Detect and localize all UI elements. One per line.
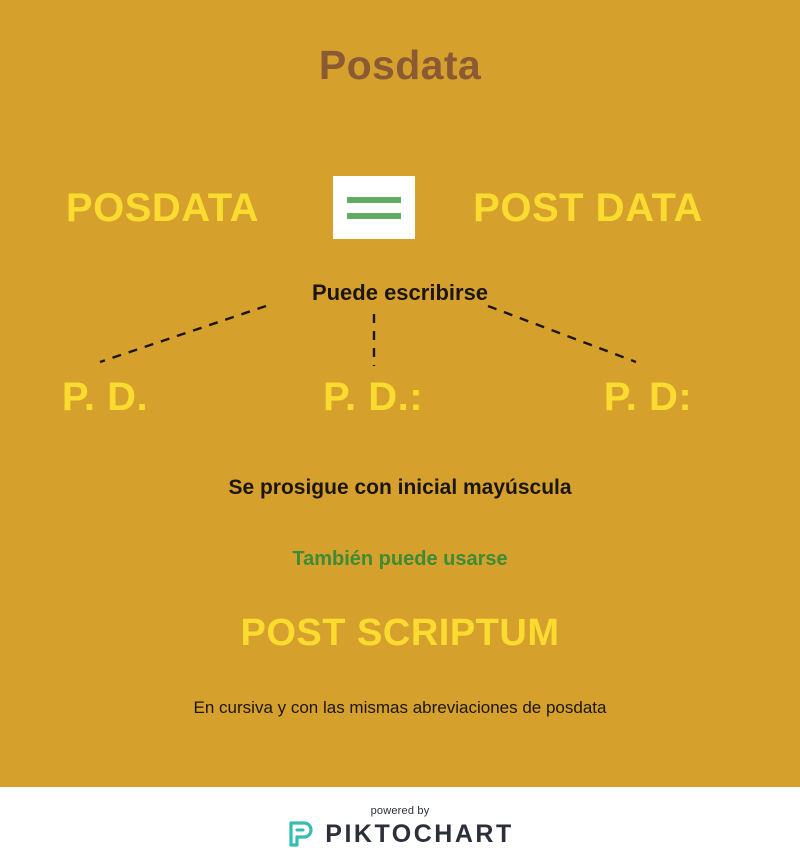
caption-usage-note: En cursiva y con las mismas abreviacione… bbox=[0, 698, 800, 718]
infographic-canvas: Posdata POSDATA POST DATA Puede escribir… bbox=[0, 0, 800, 867]
note-alternative-intro: También puede usarse bbox=[0, 548, 800, 571]
equation-row: POSDATA POST DATA bbox=[0, 176, 800, 240]
equals-bar-top bbox=[347, 197, 401, 203]
brand-name: PIKTOCHART bbox=[325, 820, 513, 849]
brand-lockup[interactable]: PIKTOCHART bbox=[286, 819, 513, 849]
variant-abbreviation-1: P. D. bbox=[10, 372, 200, 422]
variant-abbreviation-3: P. D: bbox=[553, 372, 743, 422]
page-title: Posdata bbox=[0, 42, 800, 89]
piktochart-p-logo-icon bbox=[286, 819, 316, 849]
equation-right-term: POST DATA bbox=[423, 176, 753, 240]
variant-abbreviation-2: P. D.: bbox=[278, 372, 468, 422]
sub-heading-puede-escribirse: Puede escribirse bbox=[0, 280, 800, 306]
footer-bar: powered by PIKTOCHART bbox=[0, 787, 800, 867]
equals-bar-bottom bbox=[347, 213, 401, 219]
variants-row: P. D. P. D.: P. D: bbox=[0, 372, 800, 422]
powered-by-label: powered by bbox=[371, 805, 430, 817]
equation-left-term: POSDATA bbox=[0, 176, 325, 240]
alternative-term-post-scriptum: POST SCRIPTUM bbox=[0, 612, 800, 655]
note-capitalization: Se prosigue con inicial mayúscula bbox=[0, 476, 800, 500]
equals-icon bbox=[333, 176, 415, 239]
